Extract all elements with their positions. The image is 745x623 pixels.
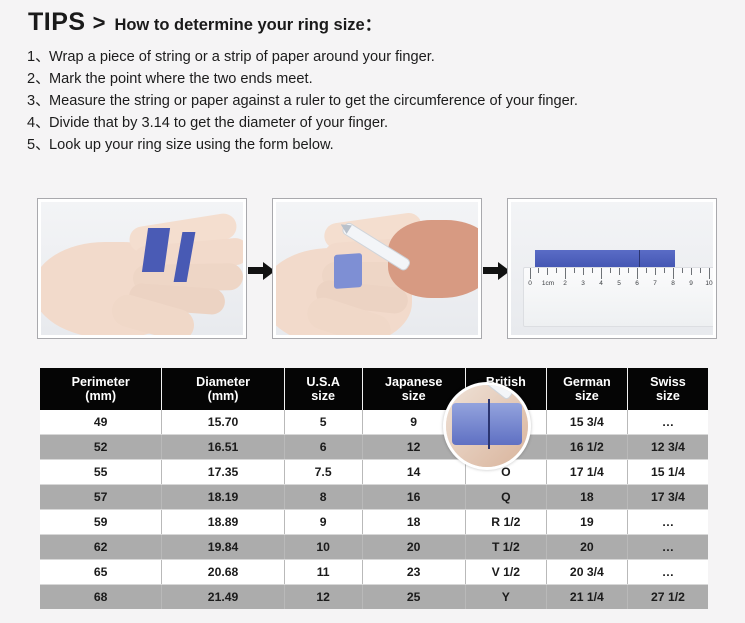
- cell-usa: 12: [284, 585, 362, 610]
- column-header-swiss-size: Swiss size: [627, 368, 708, 410]
- table-row: 49 15.70 5 9 J 1/2 15 3/4 …: [40, 410, 708, 435]
- list-text: Measure the string or paper against a ru…: [49, 93, 578, 109]
- cell-german: 18: [546, 485, 627, 510]
- cell-swiss: …: [627, 510, 708, 535]
- table-row: 52 16.51 6 12 M 16 1/2 12 3/4: [40, 435, 708, 460]
- table-body: 49 15.70 5 9 J 1/2 15 3/4 … 52 16.51 6 1…: [40, 410, 708, 609]
- cell-japanese: 25: [362, 585, 465, 610]
- list-marker: 4、: [27, 111, 49, 132]
- ring-size-guide-page: TIPS > How to determine your ring size： …: [0, 0, 745, 623]
- cell-diameter: 21.49: [162, 585, 284, 610]
- table-header: Perimeter (mm) Diameter (mm) U.S.A size …: [40, 368, 708, 410]
- ruler-label: 5: [617, 280, 621, 287]
- cell-perimeter: 62: [40, 535, 162, 560]
- list-marker: 2、: [27, 67, 49, 88]
- header-line-1: U.S.A: [287, 375, 360, 389]
- ruler-label: 7: [653, 280, 657, 287]
- table-row: 68 21.49 12 25 Y 21 1/4 27 1/2: [40, 585, 708, 610]
- list-item: 4、 Divide that by 3.14 to get the diamet…: [27, 111, 717, 133]
- cell-diameter: 18.19: [162, 485, 284, 510]
- cell-german: 16 1/2: [546, 435, 627, 460]
- cell-diameter: 16.51: [162, 435, 284, 460]
- header-line-1: Swiss: [630, 375, 706, 389]
- list-text: Divide that by 3.14 to get the diameter …: [49, 115, 388, 131]
- cell-german: 21 1/4: [546, 585, 627, 610]
- header-line-1: Diameter: [164, 375, 281, 389]
- paper-strip-shape: [334, 253, 362, 289]
- mark-line: [488, 399, 490, 449]
- header-line-2: (mm): [164, 389, 281, 403]
- ring-size-table: Perimeter (mm) Diameter (mm) U.S.A size …: [40, 368, 708, 609]
- header-line-2: size: [630, 389, 706, 403]
- instruction-list: 1、 Wrap a piece of string or a strip of …: [27, 45, 717, 155]
- cell-swiss: 27 1/2: [627, 585, 708, 610]
- cell-usa: 5: [284, 410, 362, 435]
- list-text: Mark the point where the two ends meet.: [49, 71, 313, 87]
- header-line-2: (mm): [42, 389, 159, 403]
- cell-swiss: 12 3/4: [627, 435, 708, 460]
- measuring-strip-with-ruler-photo: 0 1cm 2 3 4 5 6 7 8 9 10: [507, 198, 717, 339]
- magnified-paper-strip: [452, 403, 522, 445]
- photo-content: [276, 202, 478, 335]
- cell-diameter: 17.35: [162, 460, 284, 485]
- cell-swiss: …: [627, 535, 708, 560]
- cell-swiss: 17 3/4: [627, 485, 708, 510]
- list-item: 2、 Mark the point where the two ends mee…: [27, 67, 717, 89]
- table-row: 65 20.68 11 23 V 1/2 20 3/4 …: [40, 560, 708, 585]
- ruler-label: 1cm: [542, 280, 554, 287]
- cell-usa: 8: [284, 485, 362, 510]
- cell-usa: 7.5: [284, 460, 362, 485]
- cell-diameter: 19.84: [162, 535, 284, 560]
- ruler-label: 2: [563, 280, 567, 287]
- cell-perimeter: 59: [40, 510, 162, 535]
- cell-british: Y: [465, 585, 546, 610]
- cell-german: 19: [546, 510, 627, 535]
- list-item: 1、 Wrap a piece of string or a strip of …: [27, 45, 717, 67]
- cell-perimeter: 65: [40, 560, 162, 585]
- ruler-labels: 0 1cm 2 3 4 5 6 7 8 9 10: [524, 280, 713, 292]
- cell-diameter: 20.68: [162, 560, 284, 585]
- cell-german: 15 3/4: [546, 410, 627, 435]
- cell-usa: 9: [284, 510, 362, 535]
- greater-than-icon: >: [93, 10, 106, 36]
- column-header-perimeter: Perimeter (mm): [40, 368, 162, 410]
- marking-paper-strip-photo: [272, 198, 482, 339]
- cell-japanese: 16: [362, 485, 465, 510]
- cell-german: 17 1/4: [546, 460, 627, 485]
- cell-usa: 6: [284, 435, 362, 460]
- ruler-ticks: [524, 268, 713, 280]
- photo-content: [41, 202, 243, 335]
- header-line-1: Perimeter: [42, 375, 159, 389]
- table-row: 62 19.84 10 20 T 1/2 20 …: [40, 535, 708, 560]
- ruler-label: 3: [581, 280, 585, 287]
- cell-japanese: 23: [362, 560, 465, 585]
- ruler-label: 10: [705, 280, 712, 287]
- cell-british: R 1/2: [465, 510, 546, 535]
- photo-content: 0 1cm 2 3 4 5 6 7 8 9 10: [511, 202, 713, 335]
- list-item: 3、 Measure the string or paper against a…: [27, 89, 717, 111]
- list-marker: 5、: [27, 133, 49, 154]
- list-text: Look up your ring size using the form be…: [49, 137, 334, 153]
- cell-british: V 1/2: [465, 560, 546, 585]
- cell-japanese: 20: [362, 535, 465, 560]
- cell-british: Q: [465, 485, 546, 510]
- cell-german: 20 3/4: [546, 560, 627, 585]
- cell-usa: 10: [284, 535, 362, 560]
- ruler-label: 0: [528, 280, 532, 287]
- magnifier-circle-mark: [443, 382, 531, 470]
- ruler-label: 4: [599, 280, 603, 287]
- cell-swiss: …: [627, 410, 708, 435]
- list-marker: 3、: [27, 89, 49, 110]
- cell-japanese: 18: [362, 510, 465, 535]
- cell-british: T 1/2: [465, 535, 546, 560]
- photo-strip: 0 1cm 2 3 4 5 6 7 8 9 10: [0, 190, 745, 350]
- page-title: TIPS > How to determine your ring size：: [28, 8, 381, 37]
- cell-swiss: …: [627, 560, 708, 585]
- list-text: Wrap a piece of string or a strip of pap…: [49, 49, 435, 65]
- tips-label: TIPS: [28, 8, 86, 37]
- table-row: 57 18.19 8 16 Q 18 17 3/4: [40, 485, 708, 510]
- ruler-label: 6: [635, 280, 639, 287]
- cell-perimeter: 52: [40, 435, 162, 460]
- table-row: 59 18.89 9 18 R 1/2 19 …: [40, 510, 708, 535]
- cell-perimeter: 55: [40, 460, 162, 485]
- table-header-row: Perimeter (mm) Diameter (mm) U.S.A size …: [40, 368, 708, 410]
- header-line-2: size: [287, 389, 360, 403]
- column-header-german-size: German size: [546, 368, 627, 410]
- page-subtitle: How to determine your ring size：: [114, 11, 381, 35]
- column-header-usa-size: U.S.A size: [284, 368, 362, 410]
- cell-german: 20: [546, 535, 627, 560]
- hand-with-paper-strip-photo: [37, 198, 247, 339]
- cell-diameter: 15.70: [162, 410, 284, 435]
- list-marker: 1、: [27, 45, 49, 66]
- cell-diameter: 18.89: [162, 510, 284, 535]
- ruler-label: 9: [689, 280, 693, 287]
- cell-usa: 11: [284, 560, 362, 585]
- header-line-2: size: [549, 389, 625, 403]
- table-row: 55 17.35 7.5 14 O 17 1/4 15 1/4: [40, 460, 708, 485]
- header-line-1: German: [549, 375, 625, 389]
- ruler-shape: 0 1cm 2 3 4 5 6 7 8 9 10: [523, 267, 713, 327]
- cell-perimeter: 49: [40, 410, 162, 435]
- ruler-label: 8: [671, 280, 675, 287]
- list-item: 5、 Look up your ring size using the form…: [27, 133, 717, 155]
- cell-perimeter: 57: [40, 485, 162, 510]
- column-header-diameter: Diameter (mm): [162, 368, 284, 410]
- cell-swiss: 15 1/4: [627, 460, 708, 485]
- cell-perimeter: 68: [40, 585, 162, 610]
